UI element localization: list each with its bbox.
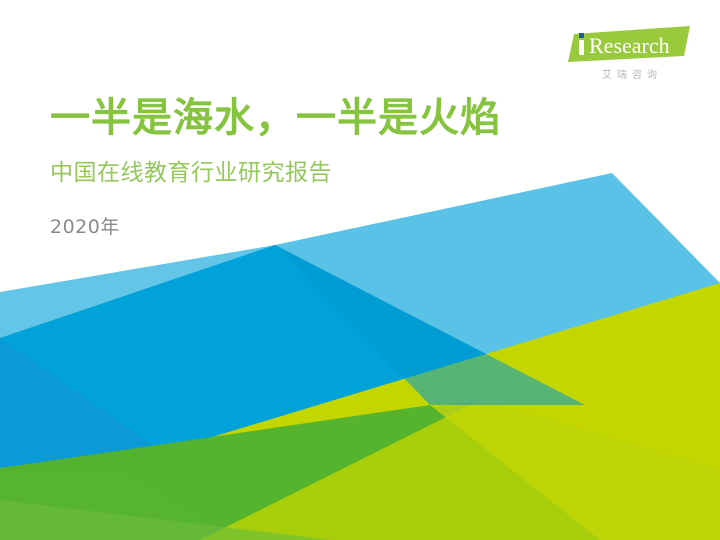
report-cover-slide: Research 艾瑞咨询 一半是海水，一半是火焰 中国在线教育行业研究报告 2…: [0, 0, 720, 540]
report-year: 2020年: [50, 214, 610, 240]
logo-i-stem: [579, 40, 584, 55]
page-title: 一半是海水，一半是火焰: [50, 94, 610, 142]
iresearch-logo: Research 艾瑞咨询: [568, 26, 692, 88]
logo-i-dot: [579, 33, 584, 38]
logo-research-text: Research: [589, 33, 670, 58]
cover-text-block: 一半是海水，一半是火焰 中国在线教育行业研究报告 2020年: [50, 94, 610, 240]
logo-wordmark-badge: Research: [568, 26, 692, 64]
logo-chinese-name: 艾瑞咨询: [568, 66, 692, 81]
page-subtitle: 中国在线教育行业研究报告: [50, 158, 610, 188]
logo-badge-shape: Research: [568, 26, 692, 64]
